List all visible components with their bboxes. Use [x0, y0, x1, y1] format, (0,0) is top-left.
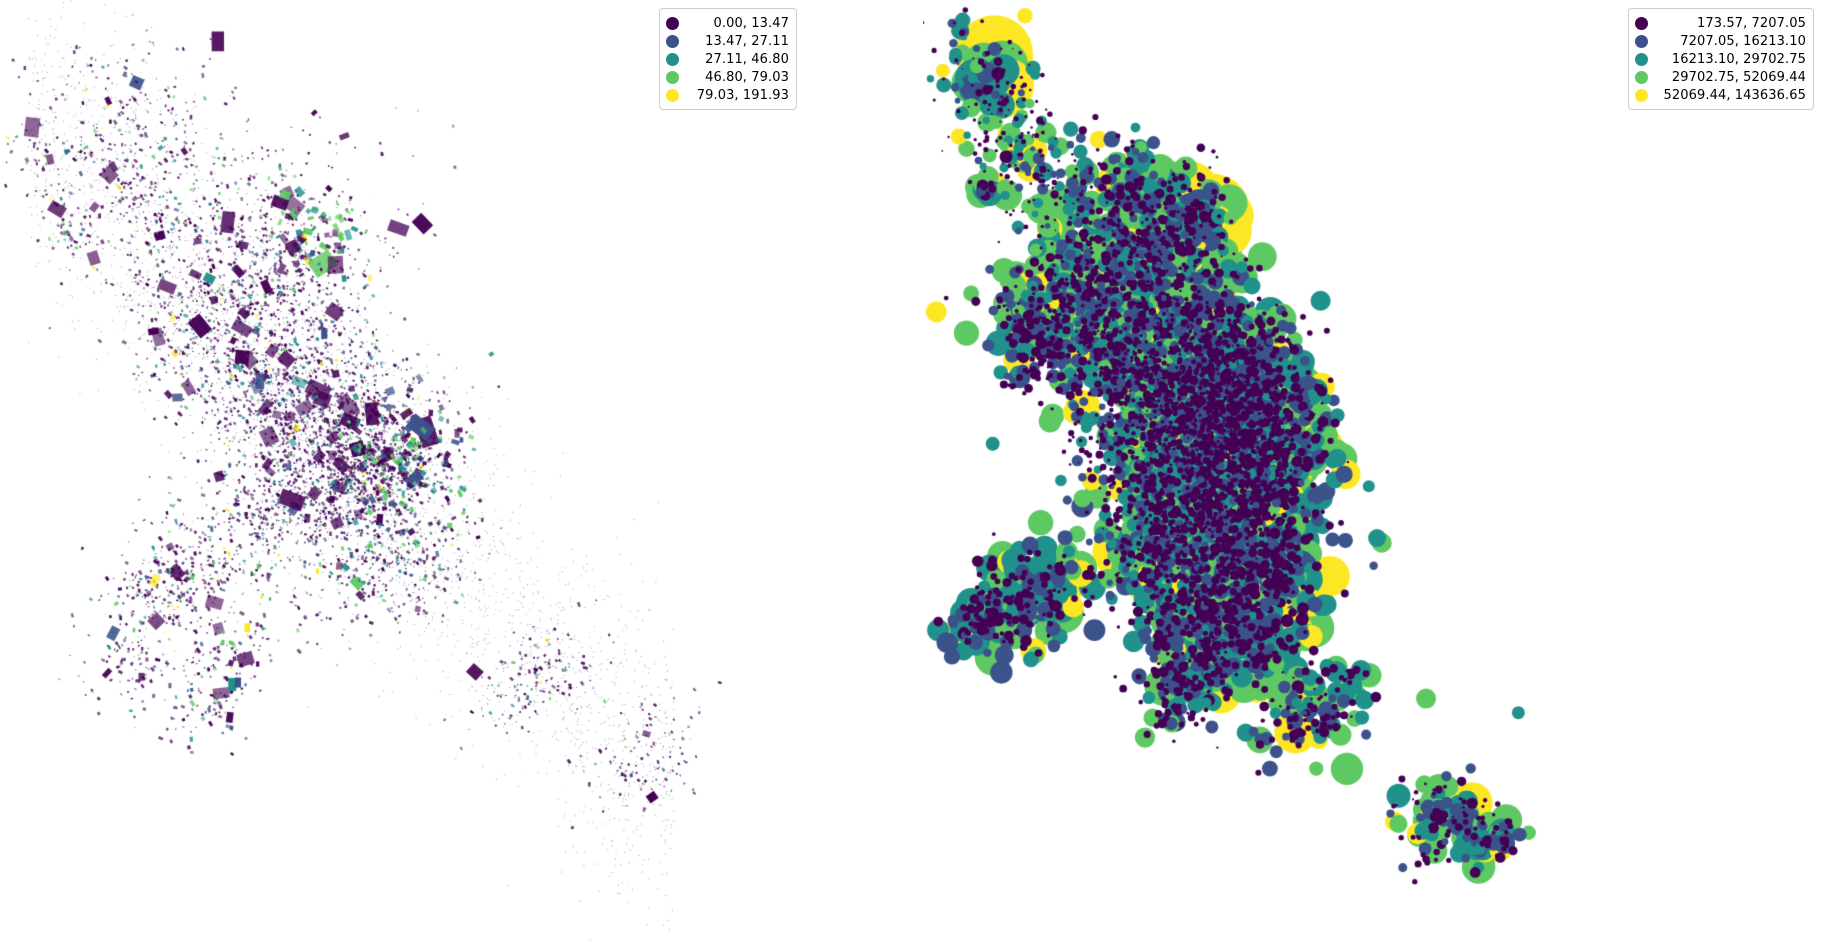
legend-item[interactable]: 29702.75, 52069.44 [1635, 68, 1806, 86]
legend-swatch-icon [666, 17, 679, 30]
right-map-canvas [923, 0, 1846, 944]
legend-item[interactable]: 27.11, 46.80 [666, 50, 789, 68]
legend-item-label: 0.00, 13.47 [685, 16, 789, 31]
legend-item[interactable]: 173.57, 7207.05 [1635, 14, 1806, 32]
left-legend: 0.00, 13.47 13.47, 27.11 27.11, 46.80 46… [659, 8, 797, 110]
left-map-panel [0, 0, 923, 944]
legend-item-label: 29702.75, 52069.44 [1654, 70, 1806, 85]
legend-swatch-icon [1635, 89, 1648, 102]
legend-swatch-icon [666, 53, 679, 66]
legend-swatch-icon [666, 71, 679, 84]
legend-item-label: 16213.10, 29702.75 [1654, 52, 1806, 67]
legend-swatch-icon [666, 89, 679, 102]
legend-item[interactable]: 79.03, 191.93 [666, 86, 789, 104]
legend-swatch-icon [666, 35, 679, 48]
legend-item-label: 27.11, 46.80 [685, 52, 789, 67]
right-map-panel [923, 0, 1846, 944]
legend-item[interactable]: 52069.44, 143636.65 [1635, 86, 1806, 104]
legend-item-label: 13.47, 27.11 [685, 34, 789, 49]
legend-item-label: 173.57, 7207.05 [1654, 16, 1806, 31]
legend-item[interactable]: 46.80, 79.03 [666, 68, 789, 86]
legend-swatch-icon [1635, 53, 1648, 66]
legend-item-label: 79.03, 191.93 [685, 88, 789, 103]
legend-item-label: 46.80, 79.03 [685, 70, 789, 85]
legend-swatch-icon [1635, 71, 1648, 84]
left-map-canvas [0, 0, 923, 944]
legend-swatch-icon [1635, 17, 1648, 30]
legend-item[interactable]: 13.47, 27.11 [666, 32, 789, 50]
figure-root: 0.00, 13.47 13.47, 27.11 27.11, 46.80 46… [0, 0, 1846, 944]
legend-item[interactable]: 0.00, 13.47 [666, 14, 789, 32]
legend-swatch-icon [1635, 35, 1648, 48]
right-legend: 173.57, 7207.05 7207.05, 16213.10 16213.… [1628, 8, 1814, 110]
legend-item[interactable]: 16213.10, 29702.75 [1635, 50, 1806, 68]
legend-item-label: 52069.44, 143636.65 [1654, 88, 1806, 103]
legend-item[interactable]: 7207.05, 16213.10 [1635, 32, 1806, 50]
legend-item-label: 7207.05, 16213.10 [1654, 34, 1806, 49]
